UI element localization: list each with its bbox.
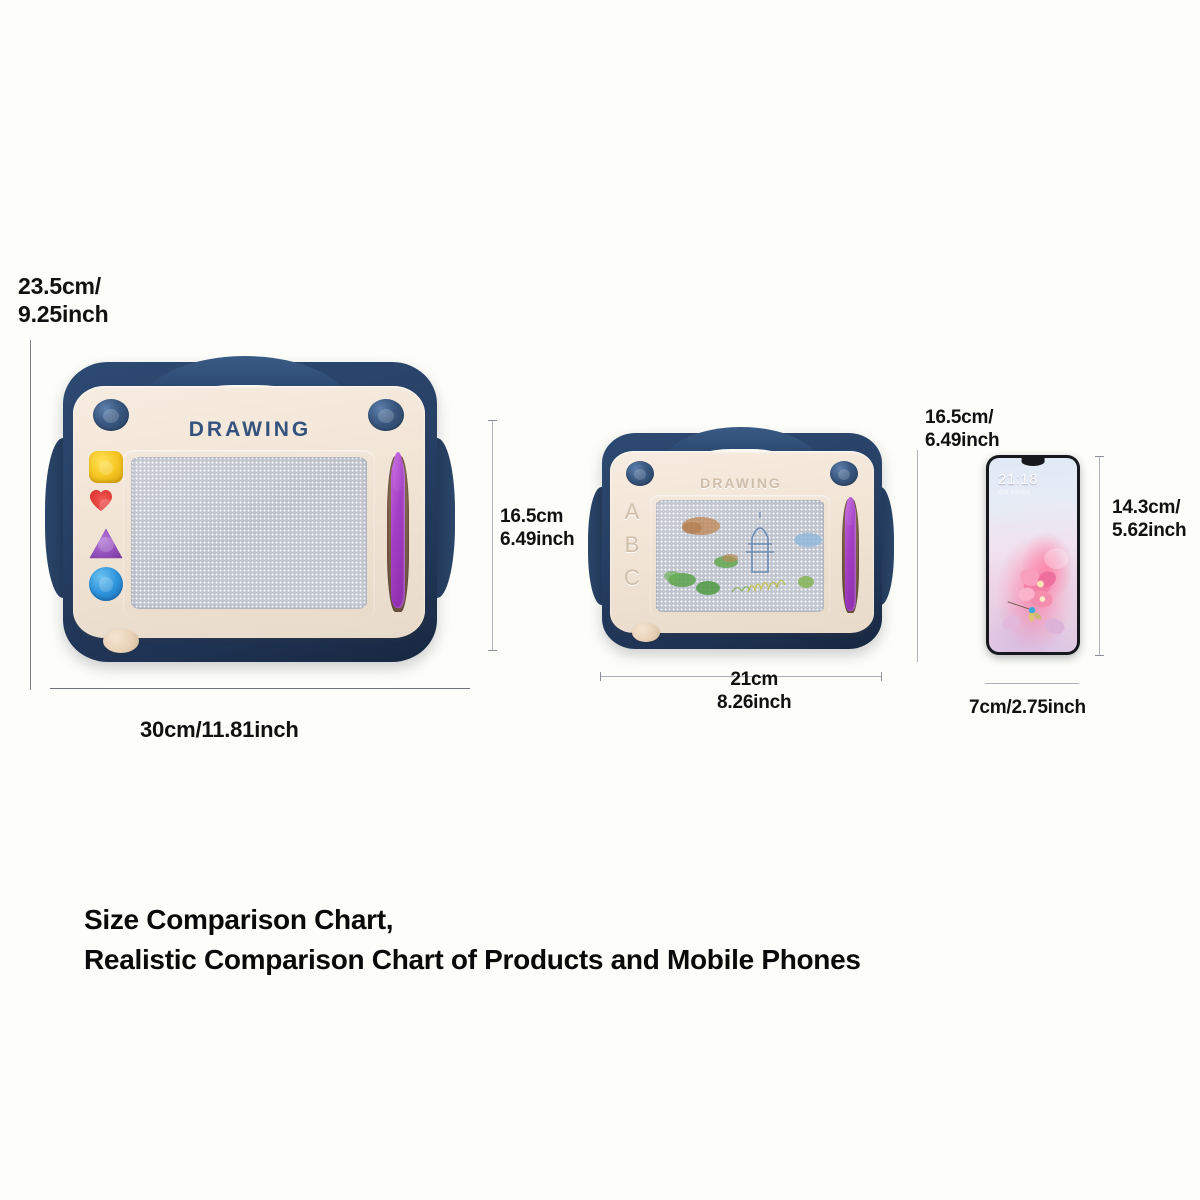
small-board-height-dimension-line (492, 420, 493, 650)
phone-screen[interactable]: ▫ ▫ ▫ ▫ 21:18 周四 8月25日 (989, 458, 1077, 652)
small-board-foot-knob (632, 623, 660, 642)
large-drawing-board[interactable]: DRAWING (45, 352, 455, 672)
phone-left-height-label: 16.5cm/ 6.49inch (925, 406, 999, 452)
phone-right-tick-top (1095, 456, 1104, 457)
large-board-height-dimension-line (30, 340, 31, 690)
phone-width-label: 7cm/2.75inch (969, 696, 1086, 719)
large-board-height-label: 23.5cm/ 9.25inch (18, 272, 108, 328)
large-board-screen[interactable] (131, 457, 367, 609)
phone-left-dimension-line (917, 450, 918, 662)
large-board-width-dimension-line (50, 688, 470, 689)
stamp-highlight (99, 577, 114, 592)
large-board-brand-text: DRAWING (45, 418, 455, 442)
small-board-height-tick-top (488, 420, 497, 421)
small-board-brand-text: DRAWING (588, 475, 894, 491)
phone-width-dimension-line (985, 683, 1079, 684)
small-board-stylus[interactable] (845, 501, 856, 611)
stamp-highlight (98, 537, 114, 552)
small-board-width-label: 21cm 8.26inch (717, 668, 791, 714)
blue-circle-stamp[interactable] (89, 567, 123, 601)
stamp-highlight (99, 461, 114, 475)
side-letter-b: B (625, 532, 640, 558)
phone-right-tick-bottom (1095, 655, 1104, 656)
caption-line-2: Realistic Comparison Chart of Products a… (84, 940, 861, 980)
screen-sketch-artwork (656, 500, 824, 612)
side-letter-a: A (625, 499, 640, 525)
small-board-height-tick-bottom (488, 650, 497, 651)
caption-line-1: Size Comparison Chart, (84, 900, 861, 940)
small-board-width-tick-right (881, 672, 882, 681)
large-board-stylus[interactable] (391, 458, 405, 608)
small-board-height-label: 16.5cm 6.49inch (500, 505, 574, 551)
size-comparison-stage: 23.5cm/ 9.25inch 30cm/11.81inch DRAWING … (0, 0, 1200, 1200)
large-board-foot-knob (103, 629, 139, 653)
small-board-screen[interactable] (656, 500, 824, 612)
side-letter-c: C (624, 565, 640, 591)
yellow-square-stamp[interactable] (89, 451, 123, 483)
phone-right-height-label: 14.3cm/ 5.62inch (1112, 496, 1186, 542)
phone-right-dimension-line (1099, 456, 1100, 656)
small-drawing-board[interactable]: DRAWING A B C (588, 425, 894, 655)
phone-wallpaper-flower (989, 458, 1077, 652)
small-board-width-tick-left (600, 672, 601, 681)
mobile-phone[interactable]: ▫ ▫ ▫ ▫ 21:18 周四 8月25日 (986, 455, 1080, 655)
caption-block: Size Comparison Chart, Realistic Compari… (84, 900, 861, 980)
small-board-side-letters: A B C (618, 499, 646, 591)
large-board-width-label: 30cm/11.81inch (140, 717, 299, 744)
